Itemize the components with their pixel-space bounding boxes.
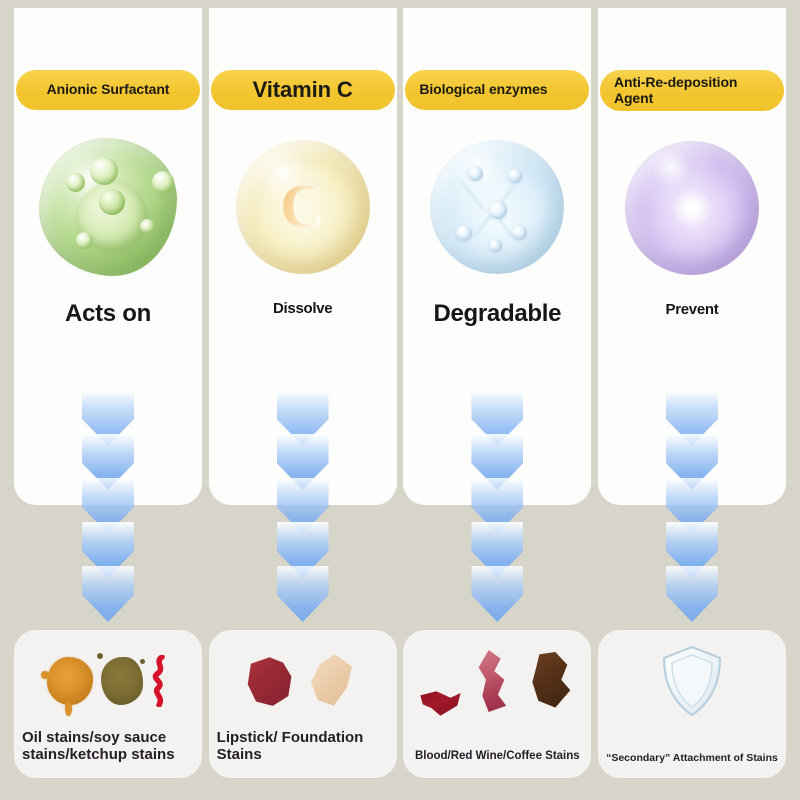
sphere-illustration-wrapper <box>617 133 767 283</box>
chevron-icon <box>277 522 329 578</box>
sphere-illustration-wrapper <box>422 132 572 282</box>
chevron-icon <box>82 566 134 622</box>
lipstick-smear-icon <box>246 654 298 708</box>
blue-enzyme-molecule-icon <box>424 134 570 280</box>
top-card: Biological enzymes Degradable <box>403 8 591 505</box>
chevron-icon <box>666 522 718 578</box>
header-pill-biological-enzymes[interactable]: Biological enzymes <box>405 70 589 110</box>
purple-glow-sphere-icon <box>619 135 765 281</box>
header-pill-vitamin-c[interactable]: Vitamin C <box>211 70 395 110</box>
sphere-illustration-wrapper <box>33 132 183 282</box>
infographic-board: Anionic Surfactant Acts on <box>0 0 800 800</box>
caption-secondary-attachment: “Secondary” Attachment of Stains <box>598 752 786 764</box>
bubble-icon <box>66 173 85 192</box>
glass-shield-icon <box>660 644 724 718</box>
top-card: Anionic Surfactant Acts on <box>14 8 202 505</box>
caption-blood-wine-coffee: Blood/Red Wine/Coffee Stains <box>403 750 591 764</box>
bottom-card: Blood/Red Wine/Coffee Stains <box>403 630 591 778</box>
green-surfactant-molecule-icon <box>35 134 181 280</box>
bottom-card: Lipstick/ Foundation Stains <box>209 630 397 778</box>
chevron-icon <box>471 566 523 622</box>
coffee-splash-icon <box>524 652 574 710</box>
oil-stain-icon <box>47 657 93 705</box>
purple-sphere-shape <box>625 141 759 275</box>
foundation-smear-icon <box>306 653 360 709</box>
top-card: Anti-Re-deposition Agent Prevent <box>598 8 786 505</box>
blood-stain-icon <box>420 690 462 720</box>
bubble-icon <box>140 219 155 234</box>
red-wine-splash-icon <box>470 650 516 712</box>
chevron-icon <box>82 522 134 578</box>
sphere-illustration-wrapper: C <box>228 132 378 282</box>
action-label-prevent: Prevent <box>666 301 719 318</box>
bubble-icon <box>76 232 93 249</box>
action-label-dissolve: Dissolve <box>273 300 332 317</box>
ketchup-stain-icon <box>151 655 169 707</box>
caption-lipstick-foundation: Lipstick/ Foundation Stains <box>209 729 397 764</box>
action-label-degradable: Degradable <box>433 300 561 328</box>
caption-oil-stains: Oil stains/soy sauce stains/ketchup stai… <box>14 729 202 764</box>
header-pill-anti-re-deposition-agent[interactable]: Anti-Re-deposition Agent <box>600 70 784 111</box>
stain-illustration-group <box>14 642 202 720</box>
chevron-icon <box>277 566 329 622</box>
letter-c-glyph: C <box>230 176 376 238</box>
header-pill-anionic-surfactant[interactable]: Anionic Surfactant <box>16 70 200 110</box>
top-card: Vitamin C C Dissolve <box>209 8 397 505</box>
bubble-icon <box>152 171 174 193</box>
action-label-acts-on: Acts on <box>65 300 151 328</box>
bottom-card: Oil stains/soy sauce stains/ketchup stai… <box>14 630 202 778</box>
bottom-card: “Secondary” Attachment of Stains <box>598 630 786 778</box>
stain-illustration-group <box>403 642 591 720</box>
stain-illustration-group <box>598 642 786 720</box>
chevron-icon <box>666 566 718 622</box>
column-anionic-surfactant: Anionic Surfactant Acts on <box>14 8 202 778</box>
column-anti-re-deposition-agent: Anti-Re-deposition Agent Prevent <box>598 8 786 778</box>
vitamin-c-sphere-icon: C <box>230 134 376 280</box>
chevron-icon <box>471 522 523 578</box>
column-vitamin-c: Vitamin C C Dissolve Lipstick/ Foundatio… <box>209 8 397 778</box>
stain-illustration-group <box>209 642 397 720</box>
molecule-structure-icon <box>424 134 570 280</box>
column-biological-enzymes: Biological enzymes Degradable <box>403 8 591 778</box>
soy-sauce-stain-icon <box>101 657 143 705</box>
